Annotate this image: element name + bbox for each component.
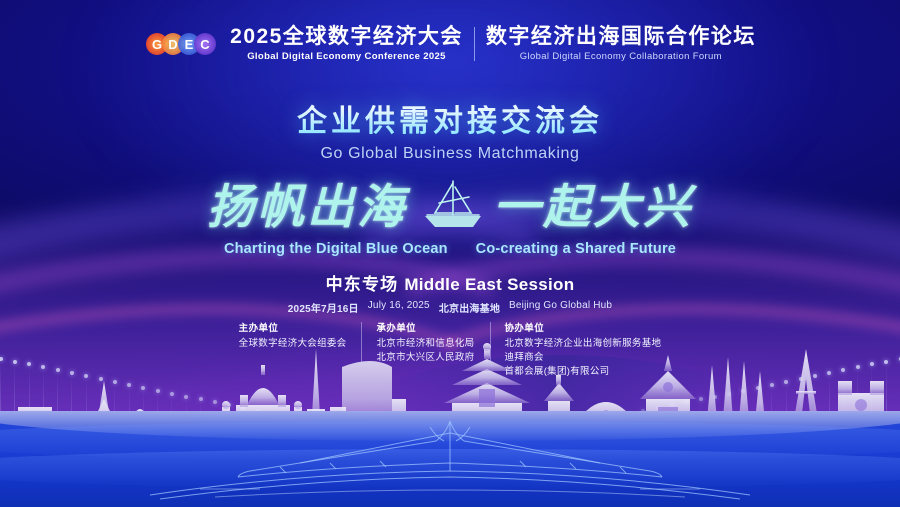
sailboat-icon [413, 175, 487, 231]
organizer-entity: 北京数字经济企业出海创新服务基地 [505, 337, 662, 351]
conference-name-block: 2025全球数字经济大会 Global Digital Economy Conf… [230, 26, 463, 62]
event-title: 企业供需对接交流会 Go Global Business Matchmaking [0, 96, 900, 163]
organizer-entity: 全球数字经济大会组委会 [239, 337, 347, 351]
session-name-cn: 中东专场 [326, 275, 399, 294]
organizer-column: 协办单位北京数字经济企业出海创新服务基地迪拜商会首都会展(集团)有限公司 [490, 320, 677, 378]
event-poster: GD EC 2025全球数字经济大会 Global Digital Econom… [0, 0, 900, 507]
forum-name-en: Global Digital Economy Collaboration For… [520, 52, 722, 62]
organizer-role: 主办单位 [239, 320, 347, 334]
organizer-column: 主办单位全球数字经济大会组委会 [224, 320, 362, 351]
svg-text:D: D [168, 37, 177, 52]
svg-text:E: E [185, 37, 194, 52]
header-divider [474, 27, 475, 61]
session-venue-cn: 北京出海基地 [439, 300, 500, 315]
svg-text:G: G [152, 37, 162, 52]
organizer-entity: 北京市大兴区人民政府 [376, 351, 474, 365]
session-date-en: July 16, 2025 [368, 300, 430, 315]
event-title-en: Go Global Business Matchmaking [0, 145, 900, 163]
organizer-role: 协办单位 [505, 320, 662, 334]
session-date-cn: 2025年7月16日 [288, 300, 359, 315]
forum-name-cn: 数字经济出海国际合作论坛 [486, 26, 756, 48]
organizers-block: 主办单位全球数字经济大会组委会承办单位北京市经济和信息化局北京市大兴区人民政府协… [0, 320, 900, 378]
slogan-left-cn: 扬帆出海 [207, 168, 407, 237]
slogan-right-en: Co-creating a Shared Future [476, 241, 676, 257]
organizer-entity: 北京市经济和信息化局 [376, 337, 474, 351]
sea-waves [0, 411, 900, 507]
organizer-column: 承办单位北京市经济和信息化局北京市大兴区人民政府 [361, 320, 489, 365]
daxing-airport-lineart [0, 411, 900, 507]
slogan-left-en: Charting the Digital Blue Ocean [224, 241, 448, 257]
forum-name-block: 数字经济出海国际合作论坛 Global Digital Economy Coll… [486, 26, 756, 62]
organizer-role: 承办单位 [376, 320, 474, 334]
svg-text:C: C [200, 37, 210, 52]
organizer-entity: 迪拜商会 [505, 351, 662, 365]
calligraphy-slogan: 扬帆出海 一起大兴 Charting the Digital Blue Ocea… [0, 168, 900, 257]
session-name-en: Middle East Session [404, 275, 574, 294]
event-title-cn: 企业供需对接交流会 [0, 96, 900, 140]
conference-name-cn: 2025全球数字经济大会 [230, 26, 463, 48]
organizer-entity: 首都会展(集团)有限公司 [505, 365, 662, 379]
session-info: 中东专场 Middle East Session 2025年7月16日 July… [0, 270, 900, 315]
conference-header: GD EC 2025全球数字经济大会 Global Digital Econom… [0, 26, 900, 62]
slogan-right-cn: 一起大兴 [493, 168, 693, 237]
gdec-logo-icon: GD EC [144, 29, 218, 59]
conference-name-en: Global Digital Economy Conference 2025 [247, 52, 446, 62]
session-venue-en: Beijing Go Global Hub [509, 300, 612, 315]
